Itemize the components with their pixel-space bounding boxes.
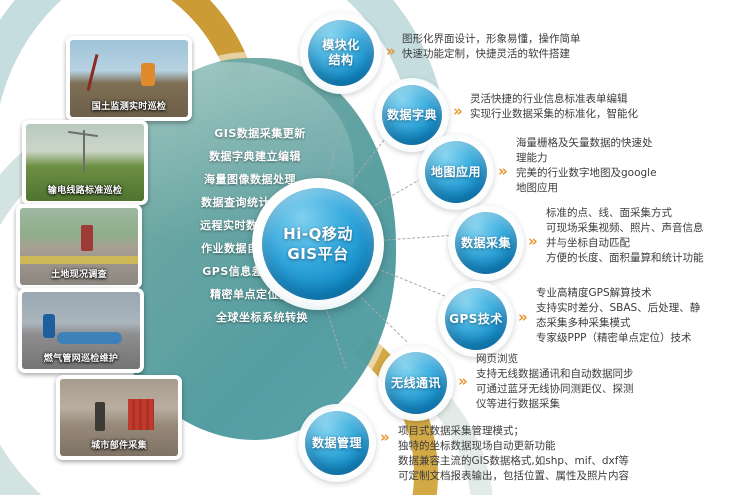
- chevron-right-icon: »: [498, 164, 505, 179]
- node-bubble-data-management[interactable]: 数据管理: [298, 404, 376, 482]
- node-bubble-wireless-communication[interactable]: 无线通讯: [378, 345, 454, 421]
- node-ball: 无线通讯: [385, 352, 447, 414]
- chevron-right-icon: »: [453, 104, 460, 119]
- node-bubble-map-application[interactable]: 地图应用: [418, 134, 494, 210]
- node-ball: 地图应用: [425, 141, 487, 203]
- photo-caption: 燃气管网巡检维护: [22, 351, 140, 364]
- chevron-right-icon: »: [458, 374, 465, 389]
- photo-card: 城市部件采集: [56, 375, 182, 460]
- feature-list-item: 全球坐标系统转换: [152, 312, 372, 323]
- node-title-line1: 无线通讯: [391, 376, 441, 391]
- chevron-right-icon: »: [380, 430, 387, 445]
- node-bubble-data-collection[interactable]: 数据采集: [448, 205, 524, 281]
- node-title-line1: 数据字典: [387, 108, 437, 123]
- photo-caption: 土地现况调查: [20, 267, 138, 280]
- feature-list-item: 数据字典建立编辑: [138, 151, 372, 162]
- node-title-line1: 地图应用: [431, 165, 481, 180]
- node-title-line2: 结构: [328, 53, 353, 68]
- node-description: 项目式数据采集管理模式； 独特的坐标数据现场自动更新功能 数据兼容主流的GIS数…: [398, 424, 738, 484]
- node-title-line1: GPS技术: [449, 312, 503, 327]
- node-description: 灵活快捷的行业信息标准表单编辑 实现行业数据采集的标准化，智能化: [470, 92, 738, 122]
- feature-list-item: GIS数据采集更新: [148, 128, 372, 139]
- node-ball: 模块化 结构: [308, 20, 374, 86]
- node-ball: GPS技术: [445, 288, 507, 350]
- node-description: 专业高精度GPS解算技术 支持实时差分、SBAS、后处理、静 态采集多种采集模式…: [536, 286, 738, 346]
- node-description: 海量栅格及矢量数据的快速处 理能力 完美的行业数字地图及google 地图应用: [516, 136, 738, 196]
- photo-caption: 国土监测实时巡检: [70, 99, 188, 112]
- chevron-right-icon: »: [386, 44, 393, 59]
- center-hub: Hi-Q移动 GIS平台: [252, 178, 384, 310]
- node-description: 网页浏览 支持无线数据通讯和自动数据同步 可通过蓝牙无线协同测距仪、探测 仪等进…: [476, 352, 738, 412]
- node-description: 图形化界面设计，形象易懂，操作简单 快速功能定制，快捷灵活的软件搭建: [402, 32, 732, 62]
- chevron-right-icon: »: [518, 310, 525, 325]
- node-bubble-gps-technology[interactable]: GPS技术: [438, 281, 514, 357]
- photo-caption: 城市部件采集: [60, 438, 178, 451]
- node-title-line1: 数据管理: [312, 436, 362, 451]
- center-hub-title-line1: Hi-Q移动: [283, 224, 353, 244]
- node-ball: 数据管理: [305, 411, 369, 475]
- node-ball: 数据字典: [382, 85, 442, 145]
- node-title-line1: 数据采集: [461, 236, 511, 251]
- center-hub-ball: Hi-Q移动 GIS平台: [262, 188, 374, 300]
- node-ball: 数据采集: [455, 212, 517, 274]
- node-bubble-modular-structure[interactable]: 模块化 结构: [300, 12, 382, 94]
- node-description: 标准的点、线、面采集方式 可现场采集视频、照片、声音信息 并与坐标自动匹配 方便…: [546, 206, 738, 266]
- node-title-line1: 模块化: [322, 38, 360, 53]
- infographic-canvas: 国土监测实时巡检 输电线路标准巡检 土地现况调查 燃气管网巡检维护 城市部件采集…: [0, 0, 738, 495]
- photo-card: 国土监测实时巡检: [66, 36, 192, 121]
- chevron-right-icon: »: [528, 234, 535, 249]
- center-hub-title-line2: GIS平台: [287, 244, 348, 264]
